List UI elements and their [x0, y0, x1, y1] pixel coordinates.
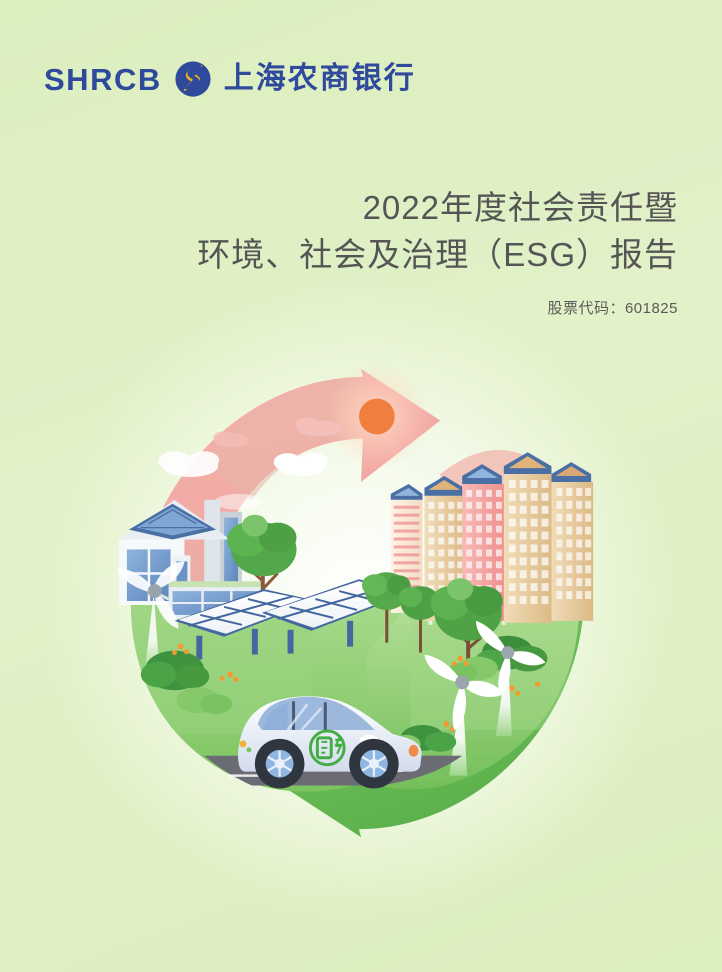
brand-logo: SHRCB 上海农商银行: [44, 60, 416, 98]
sun-icon: [359, 399, 395, 435]
shrcb-s-swirl-icon: [174, 60, 212, 98]
report-title-line-2: 环境、社会及治理（ESG）报告: [38, 232, 678, 279]
building: [551, 462, 593, 621]
cloud-icon: [214, 494, 262, 510]
illustration-canvas: [113, 355, 609, 851]
report-cover-page: SHRCB 上海农商银行 2022年度社会责任暨 环境、社会及治理（ESG）报告…: [0, 0, 722, 972]
stock-code: 股票代码：601825: [38, 297, 678, 318]
cover-title-block: 2022年度社会责任暨 环境、社会及治理（ESG）报告 股票代码：601825: [38, 185, 678, 318]
building: [504, 452, 554, 623]
cloud-icon: [159, 451, 220, 477]
brand-chinese-name: 上海农商银行: [224, 64, 416, 94]
esg-sustainability-circle-illustration: [113, 355, 609, 851]
brand-latin-name: SHRCB: [44, 64, 162, 95]
cloud-icon: [274, 453, 328, 476]
report-title-line-1: 2022年度社会责任暨: [38, 185, 678, 232]
